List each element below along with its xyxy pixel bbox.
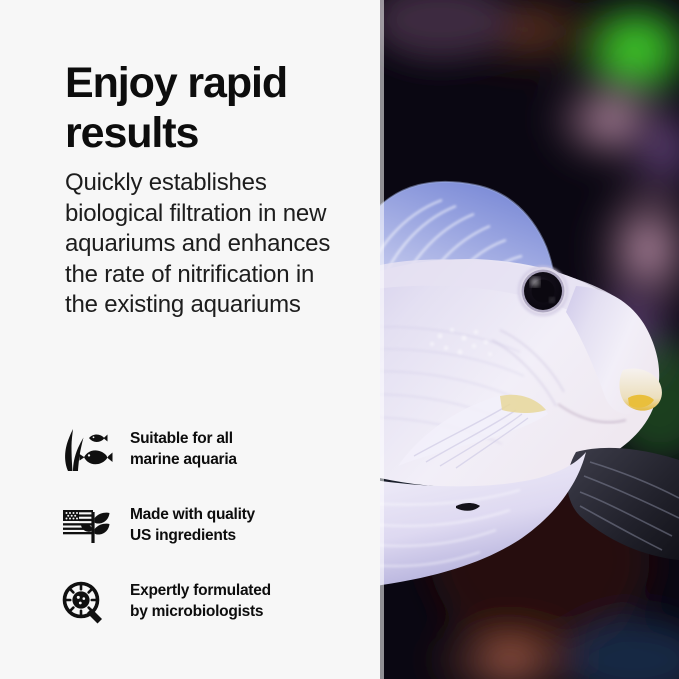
seaweed-fish-icon [58, 424, 114, 474]
feature-label-line1: Expertly formulated [130, 582, 271, 599]
feature-label: Suitable for all marine aquaria [130, 428, 237, 470]
page-title: Enjoy rapid results [65, 58, 365, 158]
magnifier-microbe-icon [58, 576, 114, 626]
feature-label-line2: US ingredients [130, 527, 236, 544]
feature-item-microbiologists: Expertly formulated by microbiologists [58, 573, 358, 629]
feature-list: Suitable for all marine aquaria [58, 421, 358, 649]
description-text: Quickly establishes biological filtratio… [65, 168, 333, 321]
product-feature-panel: Enjoy rapid results Quickly establishes … [0, 0, 679, 679]
us-flag-plant-icon [58, 500, 114, 550]
feature-label-line1: Made with quality [130, 506, 255, 523]
feature-label: Made with quality US ingredients [130, 504, 255, 546]
feature-label-line1: Suitable for all [130, 430, 233, 447]
feature-label-line2: marine aquaria [130, 451, 237, 468]
text-column: Enjoy rapid results Quickly establishes … [0, 0, 380, 679]
feature-label-line2: by microbiologists [130, 603, 263, 620]
product-photo [380, 0, 679, 679]
feature-item-marine-aquaria: Suitable for all marine aquaria [58, 421, 358, 477]
feature-label: Expertly formulated by microbiologists [130, 580, 271, 622]
feature-item-us-ingredients: Made with quality US ingredients [58, 497, 358, 553]
